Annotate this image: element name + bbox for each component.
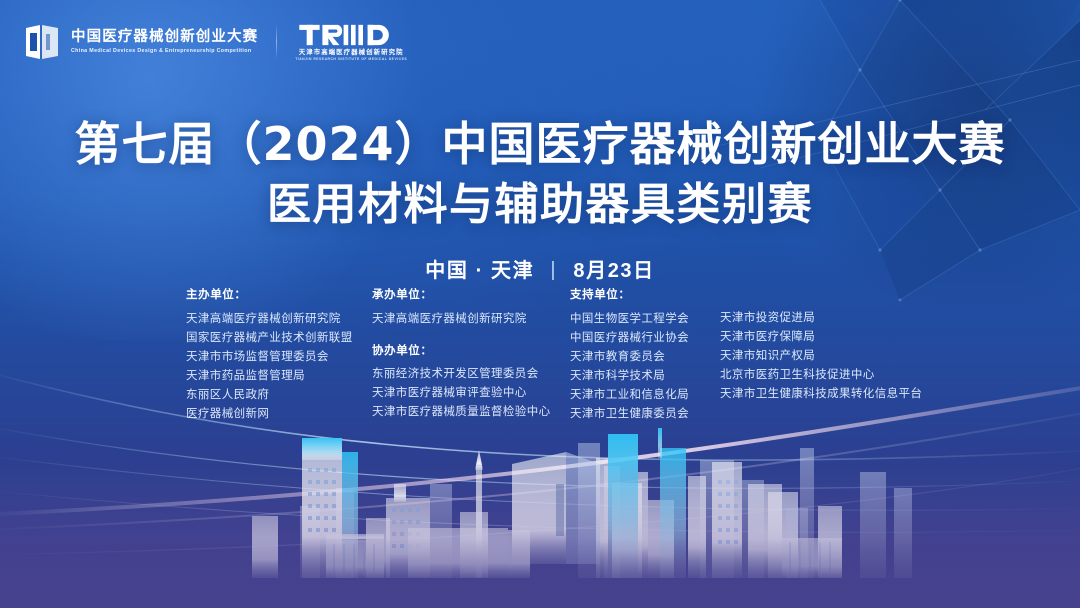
supporter-item: 天津市投资促进局: [720, 309, 922, 328]
host-item: 天津高端医疗器械创新研究院: [186, 310, 372, 329]
supporter-b-spacer: [720, 290, 922, 309]
subtitle-date: 8月23日: [573, 260, 654, 282]
supporter-heading: 支持单位：: [570, 290, 720, 302]
title-block: 第七届（2024）中国医疗器械创新创业大赛 医用材料与辅助器具类别赛 中国 · …: [0, 116, 1080, 283]
poster-title-line1: 第七届（2024）中国医疗器械创新创业大赛: [0, 116, 1080, 172]
organizer-group: 承办单位： 天津高端医疗器械创新研究院: [372, 290, 570, 329]
supporter-item: 天津市卫生健康科技成果转化信息平台: [720, 385, 922, 404]
subtitle-place: 中国 · 天津: [425, 260, 534, 282]
organizers-column-host: 主办单位： 天津高端医疗器械创新研究院 国家医疗器械产业技术创新联盟 天津市市场…: [186, 290, 372, 424]
supporter-group-a: 支持单位： 中国生物医学工程学会 中国医疗器械行业协会 天津市教育委员会 天津市…: [570, 290, 720, 424]
host-item: 天津市市场监督管理委员会: [186, 348, 372, 367]
host-heading: 主办单位：: [186, 290, 372, 302]
logo-primary-cn: 中国医疗器械创新创业大赛: [71, 30, 258, 45]
coorganizer-heading: 协办单位：: [372, 346, 570, 358]
organizers-column-organizer: 承办单位： 天津高端医疗器械创新研究院 协办单位： 东丽经济技术开发区管理委员会…: [372, 290, 570, 422]
logo-secondary: 天津市高端医疗器械创新研究院 TIANJIN RESEARCH INSTITUT…: [295, 23, 407, 62]
logo-divider: [276, 24, 277, 60]
host-item: 东丽区人民政府: [186, 386, 372, 405]
organizers-column-supporter-a: 支持单位： 中国生物医学工程学会 中国医疗器械行业协会 天津市教育委员会 天津市…: [570, 290, 720, 424]
logo-primary-text: 中国医疗器械创新创业大赛 China Medical Devices Desig…: [71, 30, 258, 54]
supporter-item: 天津市教育委员会: [570, 348, 720, 367]
supporter-item: 天津市卫生健康委员会: [570, 405, 720, 424]
coorganizer-item: 东丽经济技术开发区管理委员会: [372, 365, 570, 384]
supporter-item: 北京市医药卫生科技促进中心: [720, 366, 922, 385]
host-item: 国家医疗器械产业技术创新联盟: [186, 329, 372, 348]
supporter-item: 天津市工业和信息化局: [570, 386, 720, 405]
logo-secondary-cn: 天津市高端医疗器械创新研究院: [299, 50, 404, 56]
supporter-item: 中国医疗器械行业协会: [570, 329, 720, 348]
supporter-item: 天津市科学技术局: [570, 367, 720, 386]
organizers-column-supporter-b: 天津市投资促进局 天津市医疗保障局 天津市知识产权局 北京市医药卫生科技促进中心…: [720, 290, 922, 404]
host-item: 医疗器械创新网: [186, 405, 372, 424]
subtitle-separator: |: [550, 259, 557, 282]
organizer-item: 天津高端医疗器械创新研究院: [372, 310, 570, 329]
supporter-item: 中国生物医学工程学会: [570, 310, 720, 329]
logo-secondary-en: TIANJIN RESEARCH INSTITUTE OF MEDICAL DE…: [295, 58, 407, 61]
logo-primary-en: China Medical Devices Design & Entrepren…: [71, 49, 262, 54]
host-group: 主办单位： 天津高端医疗器械创新研究院 国家医疗器械产业技术创新联盟 天津市市场…: [186, 290, 372, 424]
host-item: 天津市药品监督管理局: [186, 367, 372, 386]
coorganizer-item: 天津市医疗器械质量监督检验中心: [372, 403, 570, 422]
supporter-item: 天津市医疗保障局: [720, 328, 922, 347]
bottom-haze: [0, 458, 1080, 608]
supporter-item: 天津市知识产权局: [720, 347, 922, 366]
supporter-group-b: 天津市投资促进局 天津市医疗保障局 天津市知识产权局 北京市医药卫生科技促进中心…: [720, 290, 922, 404]
open-book-door-logo-icon: [22, 22, 62, 62]
coorganizer-item: 天津市医疗器械审评查验中心: [372, 384, 570, 403]
organizers-section: 主办单位： 天津高端医疗器械创新研究院 国家医疗器械产业技术创新联盟 天津市市场…: [186, 290, 926, 424]
header-logos: 中国医疗器械创新创业大赛 China Medical Devices Desig…: [22, 22, 407, 62]
trimd-wordmark-icon: [299, 23, 403, 47]
coorganizer-group: 协办单位： 东丽经济技术开发区管理委员会 天津市医疗器械审评查验中心 天津市医疗…: [372, 346, 570, 423]
poster-title-line2: 医用材料与辅助器具类别赛: [0, 178, 1080, 232]
poster-subtitle: 中国 · 天津 | 8月23日: [0, 254, 1080, 283]
organizer-heading: 承办单位：: [372, 290, 570, 302]
poster-canvas: 中国医疗器械创新创业大赛 China Medical Devices Desig…: [0, 0, 1080, 608]
logo-primary: 中国医疗器械创新创业大赛 China Medical Devices Desig…: [22, 22, 258, 62]
